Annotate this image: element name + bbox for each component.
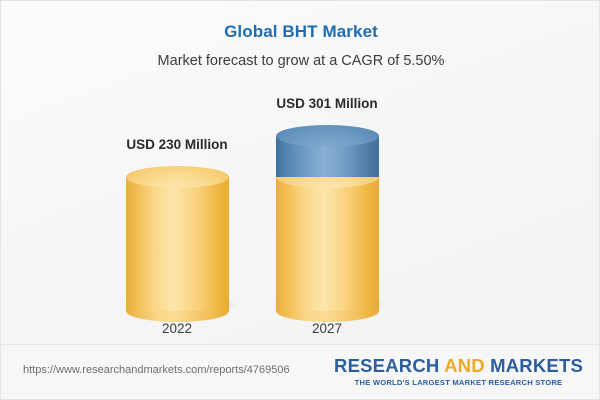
brand-name-and: AND (444, 355, 485, 376)
value-label-2022: USD 230 Million (97, 137, 257, 152)
value-label-2027: USD 301 Million (247, 96, 407, 111)
bar-group-2022: USD 230 Million 2022 (97, 1, 257, 346)
category-label-2022: 2022 (97, 321, 257, 336)
chart-plot-area: USD 230 Million 2022 USD 301 Million (1, 1, 600, 346)
brand-name: RESEARCH AND MARKETS (334, 355, 583, 377)
cylinder-top-2022 (126, 166, 229, 188)
brand-tagline: THE WORLD'S LARGEST MARKET RESEARCH STOR… (334, 378, 583, 387)
category-label-2027: 2027 (247, 321, 407, 336)
brand-logo[interactable]: RESEARCH AND MARKETS THE WORLD'S LARGEST… (334, 355, 583, 387)
chart-card: Global BHT Market Market forecast to gro… (0, 0, 600, 400)
bar-group-2027: USD 301 Million 2027 (247, 1, 407, 346)
cylinder-body-2022 (126, 177, 229, 311)
footer: https://www.researchandmarkets.com/repor… (1, 344, 600, 399)
cylinder-body-base-2027 (276, 177, 379, 311)
brand-name-part1: RESEARCH (334, 355, 444, 376)
report-url[interactable]: https://www.researchandmarkets.com/repor… (23, 364, 290, 376)
cylinder-top-2027 (276, 125, 379, 147)
brand-name-part2: MARKETS (485, 355, 583, 376)
